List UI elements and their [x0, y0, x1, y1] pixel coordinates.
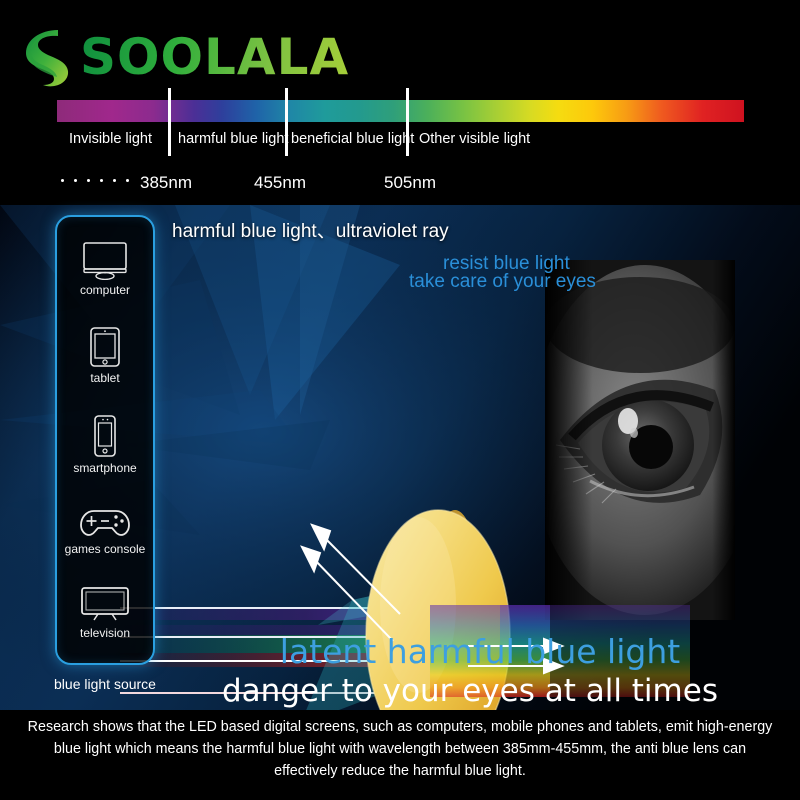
spectrum-segment-label-beneficial: beneficial blue light	[291, 131, 414, 147]
spectrum-segment-label-other: Other visible light	[419, 131, 530, 147]
spectrum-divider-385	[168, 88, 171, 156]
light-spectrum-bar	[57, 100, 744, 122]
footer-body-copy: Research shows that the LED based digita…	[22, 716, 778, 782]
spectrum-leading-dots	[61, 179, 129, 182]
wavelength-label-505: 505nm	[384, 173, 436, 193]
brand-logo: SOOLALA	[18, 26, 349, 88]
human-eye-photo	[530, 260, 760, 620]
device-item-smartphone[interactable]: smartphone	[57, 414, 153, 475]
blue-light-source-caption: blue light source	[30, 676, 180, 692]
harmful-light-caption: harmful blue light、ultraviolet ray	[172, 216, 449, 243]
brand-name: SOOLALA	[80, 32, 349, 82]
infographic-page: SOOLALA Invisible light harmful blue lig…	[0, 0, 800, 800]
television-icon	[79, 585, 131, 623]
spectrum-segment-label-invisible: Invisible light	[69, 131, 152, 147]
spectrum-segment-label-harmful: harmful blue light	[178, 131, 288, 147]
soolala-flame-s-icon	[18, 26, 74, 88]
device-label-games-console: games console	[65, 542, 146, 556]
tablet-icon	[88, 326, 122, 368]
device-label-television: television	[80, 626, 130, 640]
smartphone-icon	[92, 414, 118, 458]
device-label-tablet: tablet	[90, 371, 119, 385]
device-item-television[interactable]: television	[57, 585, 153, 640]
device-label-computer: computer	[80, 283, 130, 297]
monitor-icon	[80, 240, 130, 280]
device-item-games-console[interactable]: games console	[57, 505, 153, 556]
blue-light-source-panel: computer tablet smartphone	[55, 215, 155, 665]
wavelength-label-455: 455nm	[254, 173, 306, 193]
resist-blue-light-line2: take care of your eyes	[409, 271, 596, 293]
device-item-computer[interactable]: computer	[57, 240, 153, 297]
wavelength-label-385: 385nm	[140, 173, 192, 193]
device-item-tablet[interactable]: tablet	[57, 326, 153, 385]
device-label-smartphone: smartphone	[73, 461, 136, 475]
gamepad-icon	[78, 505, 132, 539]
